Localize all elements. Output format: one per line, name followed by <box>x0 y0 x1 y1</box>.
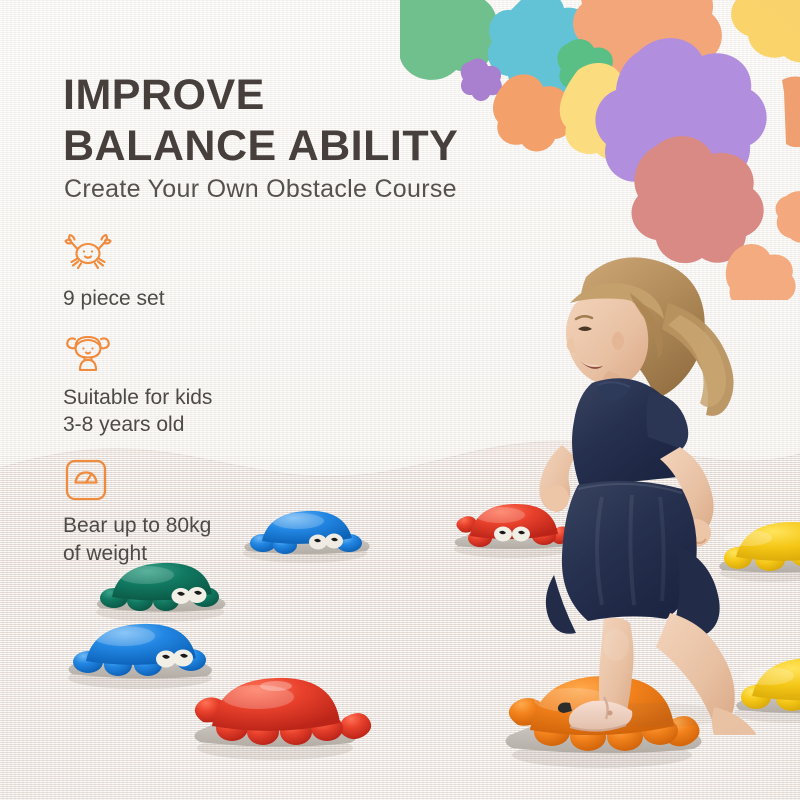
star-peach-edge <box>776 191 800 243</box>
crab-icon <box>63 230 353 278</box>
feature-item-weight-capacity: Bear up to 80kg of weight <box>63 457 353 567</box>
feature-item-piece-count: 9 piece set <box>63 230 353 313</box>
feature-label: 9 piece set <box>63 285 353 313</box>
feature-list: 9 piece set <box>63 230 353 580</box>
star-orange-right <box>782 76 800 147</box>
headline-line-1: IMPROVE <box>63 71 265 119</box>
child-photo <box>500 245 800 735</box>
page-title: IMPROVE BALANCE ABILITY <box>63 70 583 171</box>
feature-label: Bear up to 80kg of weight <box>63 512 353 567</box>
feature-label: Suitable for kids 3-8 years old <box>63 384 353 439</box>
feature-item-age-range: Suitable for kids 3-8 years old <box>63 329 353 439</box>
star-yellow-top <box>731 0 800 62</box>
girl-icon <box>63 329 353 377</box>
headline-line-2: BALANCE ABILITY <box>63 121 583 172</box>
scale-icon <box>63 457 353 505</box>
page-subtitle: Create Your Own Obstacle Course <box>64 175 457 204</box>
promo-banner: IMPROVE BALANCE ABILITY Create Your Own … <box>0 0 800 800</box>
